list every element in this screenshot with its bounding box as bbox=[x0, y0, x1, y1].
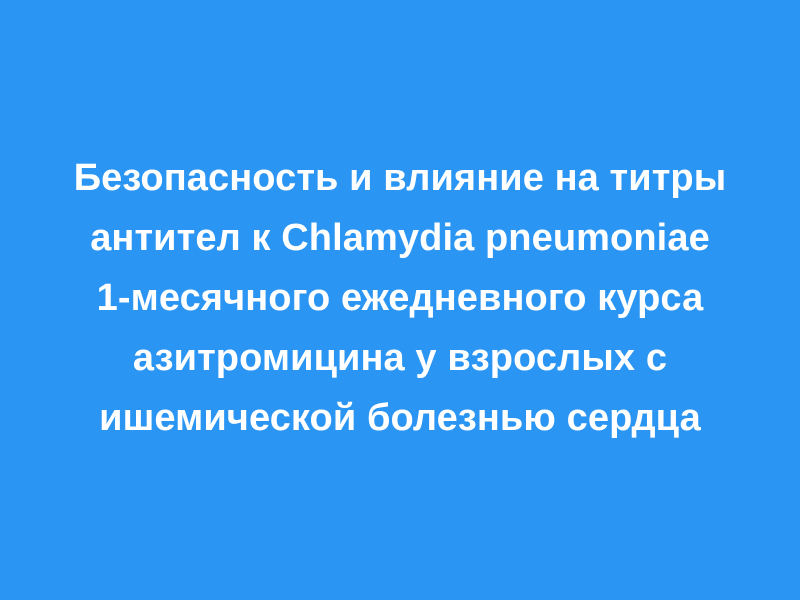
title-line-3: 1-месячного ежедневного курса bbox=[50, 268, 750, 328]
page-title: Безопасность и влияние на титры антител … bbox=[50, 148, 750, 448]
title-line-4: азитромицина у взрослых с bbox=[50, 328, 750, 388]
title-line-5: ишемической болезнью сердца bbox=[50, 388, 750, 448]
title-line-2: антител к Chlamydia pneumoniae bbox=[50, 208, 750, 268]
title-line-1: Безопасность и влияние на титры bbox=[50, 148, 750, 208]
title-card: Безопасность и влияние на титры антител … bbox=[0, 0, 800, 600]
